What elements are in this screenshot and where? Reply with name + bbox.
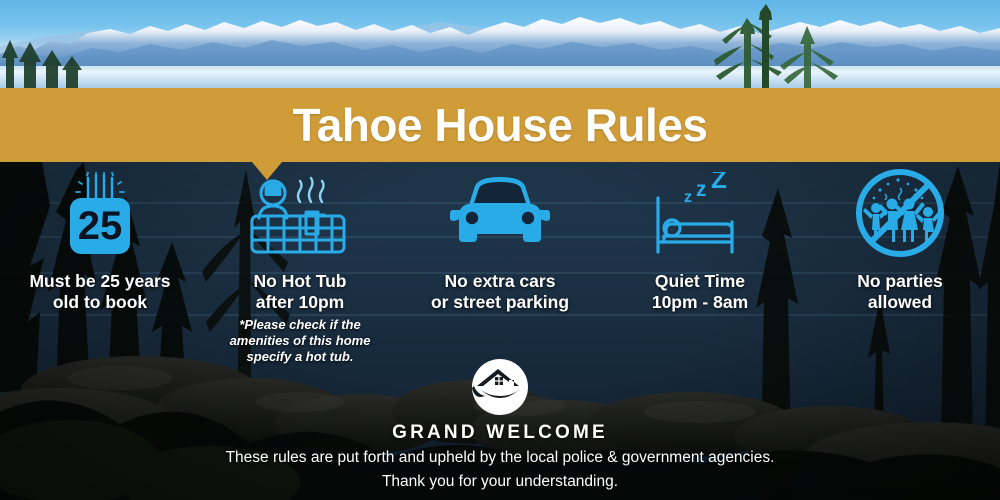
rule-label: No extra cars or street parking	[431, 271, 569, 313]
age-badge-number: 25	[78, 204, 123, 248]
rule-icon-wrapper	[248, 172, 352, 258]
rule-icon-wrapper: z z Z	[648, 172, 752, 258]
rule-label: No parties allowed	[857, 271, 943, 313]
brand-block: GRAND WELCOME	[0, 358, 1000, 444]
rule-item-hot-tub: No Hot Tub after 10pm *Please check if t…	[200, 172, 400, 347]
rules-row: 25 Must be 25 years old to book	[0, 172, 1000, 347]
z-large: Z	[711, 172, 727, 194]
grand-welcome-house-circle-logo	[471, 358, 529, 416]
rule-item-quiet-time: z z Z Quiet Time 10pm - 8am	[600, 172, 800, 347]
hot-tub-icon	[248, 172, 352, 258]
rule-item-age: 25 Must be 25 years old to book	[0, 172, 200, 347]
footer-line-2: Thank you for your understanding.	[0, 470, 1000, 494]
rule-icon-wrapper	[449, 172, 551, 258]
header-banner-photo	[0, 0, 1000, 88]
rule-icon-wrapper	[852, 172, 948, 258]
rule-label: Quiet Time 10pm - 8am	[652, 271, 748, 313]
rule-label: No Hot Tub after 10pm	[254, 271, 347, 313]
mountain-range-illustration	[0, 0, 1000, 88]
no-parties-icon	[852, 168, 948, 258]
rule-item-no-parties: No parties allowed	[800, 172, 1000, 347]
bed-sleep-icon: z z Z	[648, 172, 752, 258]
car-icon	[449, 172, 551, 258]
title-bar: Tahoe House Rules	[0, 88, 1000, 162]
house-rules-poster: Tahoe House Rules	[0, 0, 1000, 500]
birthday-cake-25-icon: 25	[57, 172, 143, 258]
footer-line-1: These rules are put forth and upheld by …	[0, 446, 1000, 470]
steam-wisps	[298, 178, 324, 202]
rule-label: Must be 25 years old to book	[29, 271, 170, 313]
rule-icon-wrapper: 25	[57, 172, 143, 258]
page-title: Tahoe House Rules	[0, 98, 1000, 152]
footer-disclaimer: These rules are put forth and upheld by …	[0, 446, 1000, 494]
z-medium: z	[696, 178, 707, 201]
rule-item-parking: No extra cars or street parking	[400, 172, 600, 347]
z-small: z	[684, 189, 692, 206]
prohibition-slash	[871, 184, 929, 242]
brand-name: GRAND WELCOME	[392, 422, 608, 444]
